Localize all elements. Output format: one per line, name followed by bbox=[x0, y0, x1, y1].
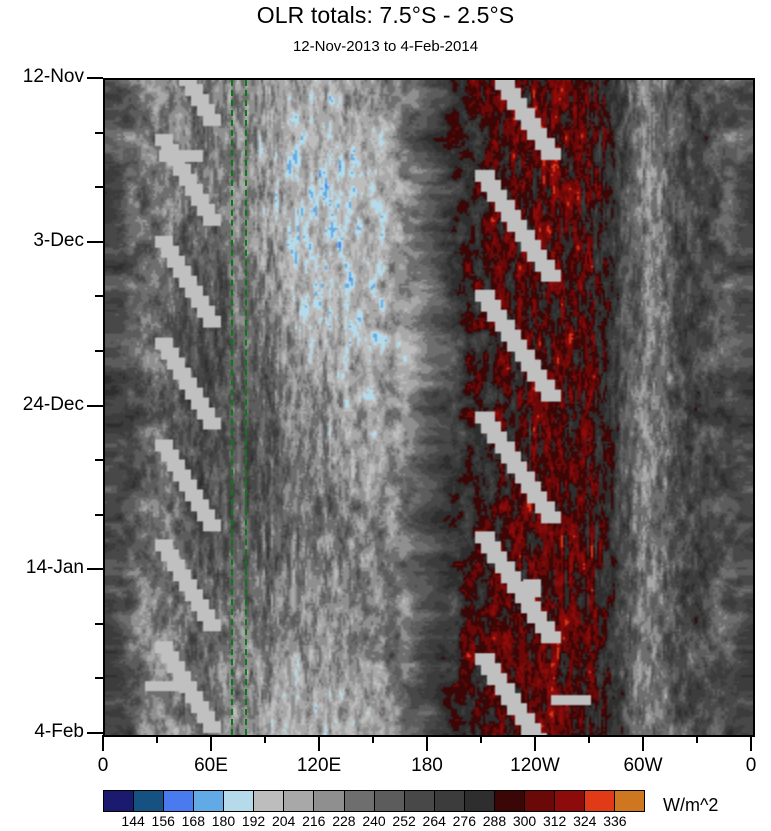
x-tick-minor bbox=[696, 735, 698, 743]
y-tick-minor bbox=[95, 295, 103, 297]
colorbar-tick-labels: 1441561681801922042162282402522642762883… bbox=[103, 813, 645, 831]
x-tick-major bbox=[102, 735, 104, 751]
x-tick-minor bbox=[156, 735, 158, 743]
y-axis-label: 24-Dec bbox=[0, 394, 84, 416]
x-axis-label: 60E bbox=[171, 755, 251, 777]
y-tick-major bbox=[87, 241, 103, 243]
longitude-marker-line-2 bbox=[245, 80, 247, 735]
colorbar-swatch[interactable] bbox=[554, 791, 584, 811]
colorbar-swatch[interactable] bbox=[223, 791, 253, 811]
colorbar-tick-label: 336 bbox=[595, 813, 635, 829]
colorbar-swatch[interactable] bbox=[434, 791, 464, 811]
x-tick-minor bbox=[588, 735, 590, 743]
x-axis-label: 0 bbox=[63, 755, 143, 777]
colorbar-swatch[interactable] bbox=[163, 791, 193, 811]
colorbar-swatch[interactable] bbox=[404, 791, 434, 811]
x-axis-label: 60W bbox=[603, 755, 683, 777]
colorbar-swatch[interactable] bbox=[494, 791, 524, 811]
x-tick-major bbox=[426, 735, 428, 751]
chart-title: OLR totals: 7.5°S - 2.5°S bbox=[0, 2, 771, 29]
colorbar-unit-label: W/m^2 bbox=[663, 795, 718, 816]
longitude-marker-line-1 bbox=[231, 80, 233, 735]
y-tick-minor bbox=[95, 677, 103, 679]
y-tick-major bbox=[87, 77, 103, 79]
y-tick-major bbox=[87, 732, 103, 734]
colorbar-swatch[interactable] bbox=[193, 791, 223, 811]
x-tick-minor bbox=[372, 735, 374, 743]
x-tick-major bbox=[534, 735, 536, 751]
y-tick-major bbox=[87, 405, 103, 407]
hovmoller-plot-area[interactable] bbox=[105, 80, 753, 735]
y-tick-minor bbox=[95, 623, 103, 625]
x-axis-label: 0 bbox=[711, 755, 771, 777]
colorbar-swatch[interactable] bbox=[614, 791, 644, 811]
y-axis-label: 12-Nov bbox=[0, 66, 84, 88]
colorbar-swatch[interactable] bbox=[584, 791, 614, 811]
colorbar-swatch[interactable] bbox=[313, 791, 343, 811]
x-axis-label: 120W bbox=[495, 755, 575, 777]
x-tick-major bbox=[210, 735, 212, 751]
colorbar-swatch[interactable] bbox=[374, 791, 404, 811]
colorbar-swatch[interactable] bbox=[104, 791, 133, 811]
x-tick-minor bbox=[264, 735, 266, 743]
x-axis-label: 180 bbox=[387, 755, 467, 777]
colorbar-swatch[interactable] bbox=[524, 791, 554, 811]
colorbar-swatch[interactable] bbox=[133, 791, 163, 811]
y-axis-label: 14-Jan bbox=[0, 557, 84, 579]
x-tick-major bbox=[318, 735, 320, 751]
colorbar-swatch[interactable] bbox=[253, 791, 283, 811]
y-tick-minor bbox=[95, 459, 103, 461]
x-tick-major bbox=[750, 735, 752, 751]
hovmoller-plot-frame bbox=[103, 78, 755, 737]
x-tick-minor bbox=[480, 735, 482, 743]
y-tick-minor bbox=[95, 514, 103, 516]
y-tick-minor bbox=[95, 132, 103, 134]
y-tick-minor bbox=[95, 186, 103, 188]
y-tick-major bbox=[87, 568, 103, 570]
colorbar[interactable] bbox=[103, 790, 645, 812]
x-axis-label: 120E bbox=[279, 755, 359, 777]
colorbar-swatch[interactable] bbox=[344, 791, 374, 811]
x-tick-major bbox=[642, 735, 644, 751]
olr-field-canvas bbox=[105, 80, 753, 735]
colorbar-swatch[interactable] bbox=[464, 791, 494, 811]
y-axis-label: 4-Feb bbox=[0, 721, 84, 743]
y-tick-minor bbox=[95, 350, 103, 352]
chart-subtitle: 12-Nov-2013 to 4-Feb-2014 bbox=[0, 38, 771, 55]
colorbar-swatch[interactable] bbox=[283, 791, 313, 811]
y-axis-label: 3-Dec bbox=[0, 230, 84, 252]
